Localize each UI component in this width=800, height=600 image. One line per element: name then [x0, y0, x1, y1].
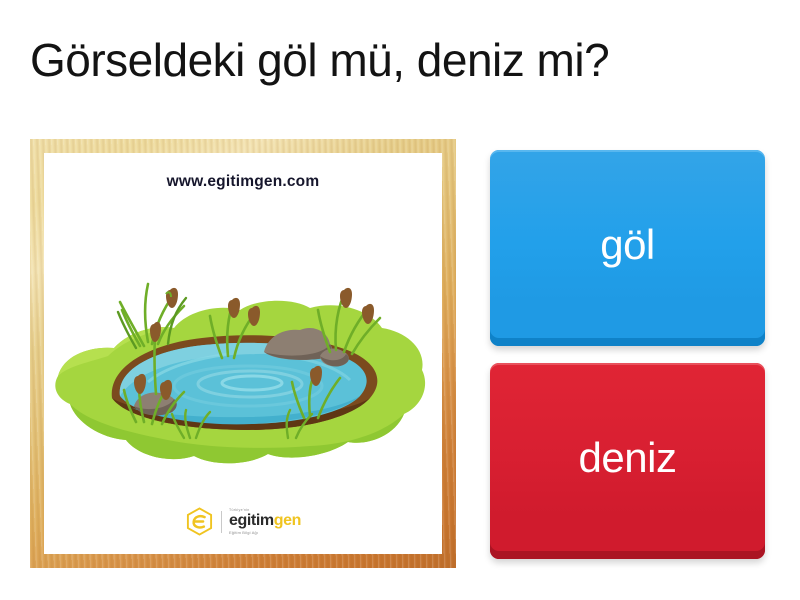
- logo-text-block: Türkiye'nin egitimgen Eğitim Bilgi Ağı: [229, 509, 301, 535]
- logo-wordmark-primary: egitim: [229, 512, 274, 529]
- logo-wordmark-accent: gen: [274, 512, 301, 529]
- image-card-inner: www.egitimgen.com: [44, 153, 442, 554]
- watermark-text: www.egitimgen.com: [44, 173, 442, 191]
- logo-wordmark: egitimgen: [229, 513, 301, 529]
- answer-option-gol-label: göl: [600, 221, 655, 269]
- page-title: Görseldeki göl mü, deniz mi?: [30, 32, 775, 88]
- quiz-slide: Görseldeki göl mü, deniz mi? www.egitimg…: [0, 0, 800, 600]
- pond-illustration: [52, 258, 434, 473]
- answer-option-deniz-label: deniz: [579, 434, 677, 482]
- image-card-frame: www.egitimgen.com: [30, 139, 456, 568]
- logo-divider: [221, 511, 222, 533]
- logo-tagline-bottom: Eğitim Bilgi Ağı: [229, 531, 301, 535]
- answer-option-deniz[interactable]: deniz: [490, 363, 765, 559]
- hexagon-e-icon: [185, 507, 214, 536]
- answer-option-gol[interactable]: göl: [490, 150, 765, 346]
- brand-logo: Türkiye'nin egitimgen Eğitim Bilgi Ağı: [44, 507, 442, 536]
